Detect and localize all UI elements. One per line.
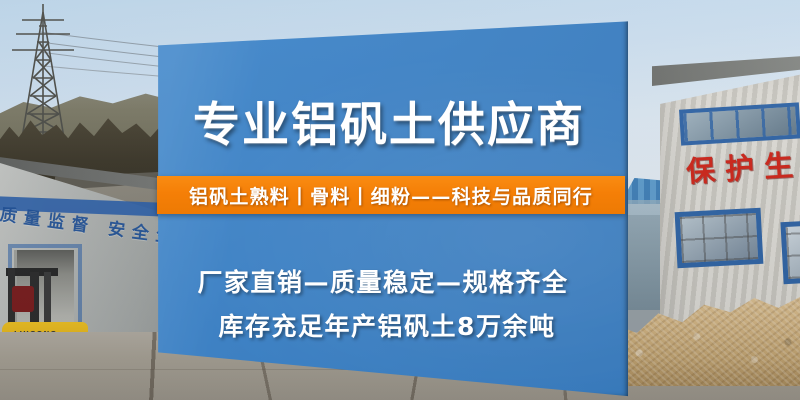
subline-1: 厂家直销—质量稳定—规格齐全 [163, 263, 603, 299]
bauxite-supplier-banner: 质量监督 安全生产 LIUGONG 保护生态 专业铝矾土供应商 铝 [0, 0, 800, 400]
headline-wrap: 专业铝矾土供应商 [158, 86, 620, 155]
subline-2: 库存充足年产铝矾土8万余吨 [167, 307, 607, 343]
page-title: 专业铝矾土供应商 [158, 86, 620, 155]
ribbon-text: 铝矾土熟料丨骨料丨细粉——科技与品质同行 [189, 182, 593, 209]
orange-ribbon: 铝矾土熟料丨骨料丨细粉——科技与品质同行 [157, 176, 625, 214]
